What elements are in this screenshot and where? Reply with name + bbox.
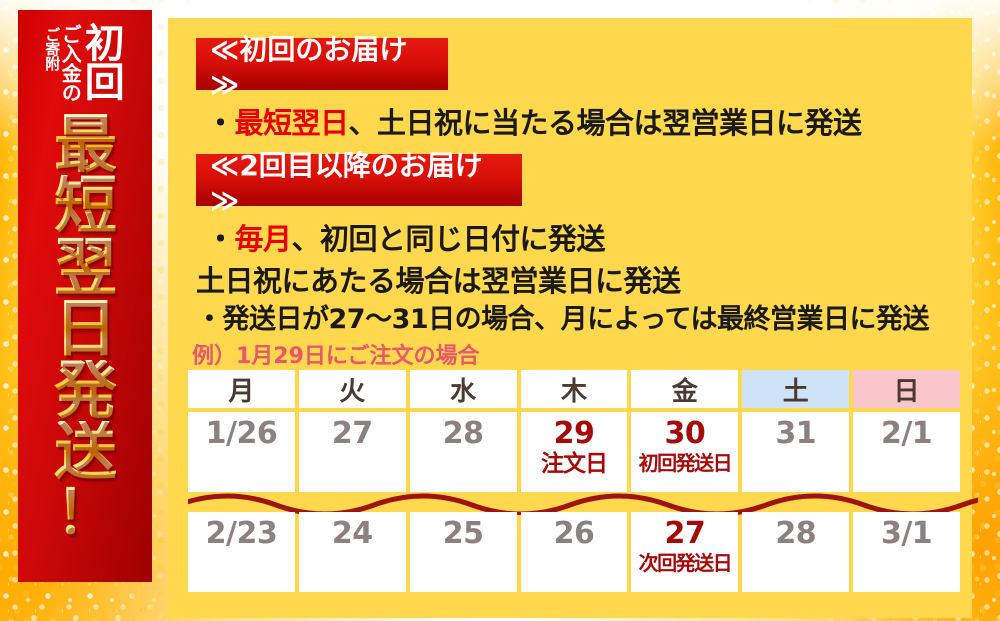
weekday-header-tue: 火 (299, 370, 406, 408)
weekday-header-sat: 土 (742, 370, 849, 408)
slogan-char: 発 (54, 360, 116, 421)
date-number: 29 (554, 418, 595, 450)
date-number: 27 (332, 418, 373, 450)
date-tag: 初回発送日 (639, 452, 732, 474)
calendar-cell: 28 (410, 412, 517, 492)
subsequent-delivery-line-3: ・発送日が27〜31日の場合、月によっては最終営業日に発送 (196, 297, 929, 336)
line-rest: 発送日が27〜31日の場合、月によっては最終営業日に発送 (223, 304, 929, 335)
calendar-cell: 2/1 (853, 412, 960, 492)
calendar-date-row-2: 2/23 24 25 26 27 次回発送日 28 3/1 (188, 512, 960, 592)
line-rest: 、初回と同じ日付に発送 (292, 222, 606, 256)
calendar-cell: 26 (521, 512, 628, 592)
slogan-char: 日 (54, 298, 116, 359)
calendar-cell: 31 (742, 412, 849, 492)
calendar-weekday-header-row: 月 火 水 木 金 土 日 (188, 370, 960, 408)
calendar-cell: 28 (742, 512, 849, 592)
slogan-char: 送 (54, 421, 116, 482)
calendar-cell: 24 (299, 512, 406, 592)
side-banner-slogan: 最 短 翌 日 発 送 ！ (18, 114, 152, 578)
side-banner: 初回 ご入金の ご寄附 最 短 翌 日 発 送 ！ (18, 10, 152, 582)
date-number: 28 (443, 418, 484, 450)
weekday-header-thu: 木 (521, 370, 628, 408)
bullet-prefix: ・ (196, 304, 223, 335)
slogan-char: 短 (54, 175, 116, 236)
promo-banner: 初回 ご入金の ご寄附 最 短 翌 日 発 送 ！ ≪初回のお届け≫ ・最短翌日… (0, 0, 1000, 621)
date-number: 24 (332, 518, 373, 550)
date-number: 1/26 (206, 418, 278, 450)
date-number: 26 (554, 518, 595, 550)
section-header-first-delivery: ≪初回のお届け≫ (196, 38, 448, 90)
subsequent-delivery-line-2: 土日祝にあたる場合は翌営業日に発送 (196, 258, 681, 300)
weekday-header-mon: 月 (188, 370, 295, 408)
slogan-char: ！ (56, 483, 115, 543)
date-tag: 次回発送日 (639, 552, 732, 574)
calendar-cell-next-shipment-date: 27 次回発送日 (631, 512, 738, 592)
calendar-cell: 1/26 (188, 412, 295, 492)
section-header-subsequent-delivery: ≪2回目以降のお届け≫ (196, 154, 522, 206)
line-rest: 土日祝にあたる場合は翌営業日に発送 (196, 264, 681, 298)
calendar-cell-first-shipment-date: 30 初回発送日 (631, 412, 738, 492)
date-number: 30 (664, 418, 705, 450)
example-label: 例）1月29日にご注文の場合 (192, 338, 479, 370)
side-banner-headline-main: 初回 (81, 22, 119, 100)
calendar-cell: 3/1 (853, 512, 960, 592)
highlight-text: 毎月 (235, 222, 292, 256)
side-banner-headline: 初回 ご入金の ご寄附 (18, 22, 152, 114)
calendar-cell: 2/23 (188, 512, 295, 592)
weekday-header-sun: 日 (853, 370, 960, 408)
date-number: 2/23 (206, 518, 278, 550)
date-tag: 注文日 (541, 452, 607, 477)
date-number: 25 (443, 518, 484, 550)
date-number: 2/1 (881, 418, 932, 450)
slogan-char: 最 (54, 114, 116, 175)
bullet-prefix: ・ (206, 106, 235, 140)
highlight-text: 最短翌日 (235, 106, 349, 140)
date-number: 28 (775, 518, 816, 550)
calendar-cell: 25 (410, 512, 517, 592)
calendar-second-month: 2/23 24 25 26 27 次回発送日 28 3/1 (188, 512, 960, 592)
slogan-char: 翌 (54, 237, 116, 298)
weekday-header-fri: 金 (631, 370, 738, 408)
side-banner-headline-sub-2: ご寄附 (44, 27, 59, 71)
first-delivery-line-1: ・最短翌日、土日祝に当たる場合は翌営業日に発送 (206, 100, 862, 142)
date-number: 27 (664, 518, 705, 550)
calendar-cell-order-date: 29 注文日 (521, 412, 628, 492)
date-number: 3/1 (881, 518, 932, 550)
calendar-cell: 27 (299, 412, 406, 492)
subsequent-delivery-line-1: ・毎月、初回と同じ日付に発送 (206, 216, 605, 258)
date-number: 31 (775, 418, 816, 450)
calendar-date-row-1: 1/26 27 28 29 注文日 30 初回発送日 31 2/1 (188, 412, 960, 492)
calendar: 月 火 水 木 金 土 日 1/26 27 28 29 注文日 30 (188, 370, 960, 492)
weekday-header-wed: 水 (410, 370, 517, 408)
line-rest: 、土日祝に当たる場合は翌営業日に発送 (349, 106, 862, 140)
bullet-prefix: ・ (206, 222, 235, 256)
